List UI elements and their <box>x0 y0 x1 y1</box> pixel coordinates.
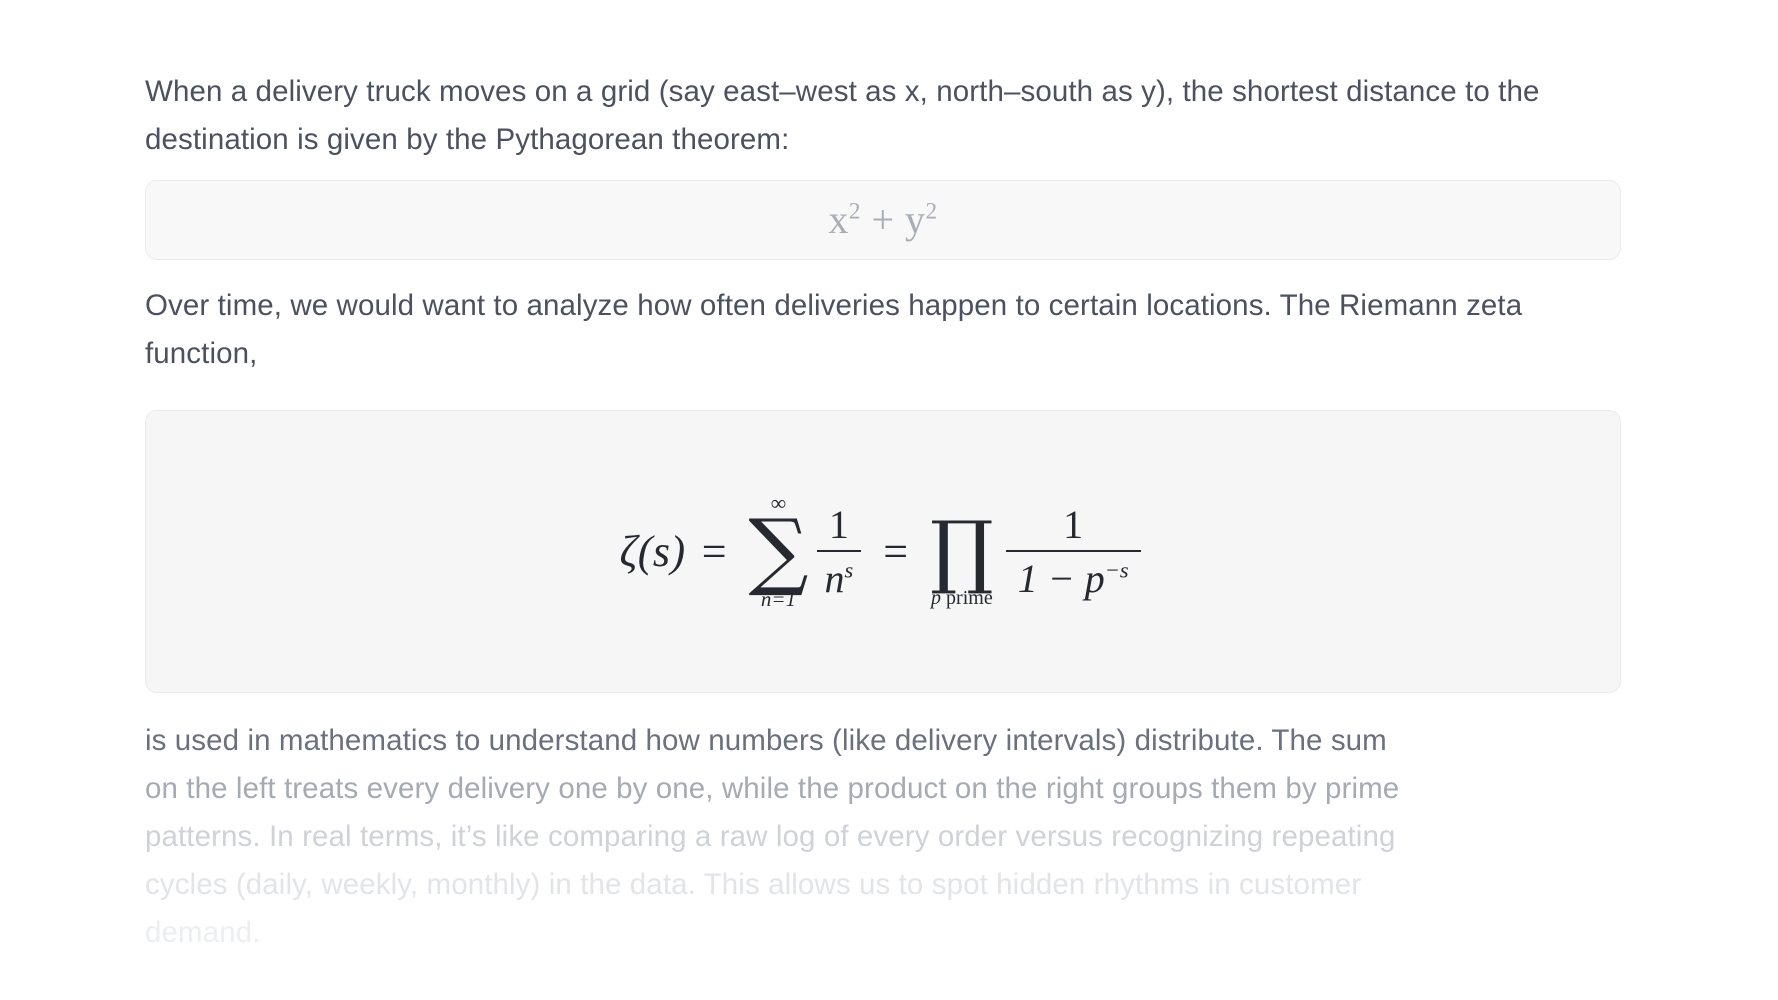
sum-fraction-numerator: 1 <box>821 504 857 550</box>
document-page: When a delivery truck moves on a grid (s… <box>0 0 1778 1000</box>
product-operator: ∏ p prime <box>930 495 994 608</box>
zeta-open-paren: ( <box>638 527 653 576</box>
summation-operator: ∞ ∑ n=1 <box>749 493 809 610</box>
sigma-icon: ∑ <box>749 516 809 585</box>
formula-x-base: x <box>828 197 849 242</box>
paragraph-zeta-intro: Over time, we would want to analyze how … <box>145 260 1621 378</box>
product-denominator-base: p <box>1085 556 1105 601</box>
paragraph-intro: When a delivery truck moves on a grid (s… <box>145 0 1621 164</box>
zeta-variable-s: s <box>653 527 671 576</box>
product-fraction-numerator: 1 <box>1051 504 1095 550</box>
formula-riemann-zeta: ζ(s) = ∞ ∑ n=1 1 ns = <box>619 493 1146 610</box>
closing-line-5: demand. <box>145 909 1621 957</box>
closing-line-4: cycles (daily, weekly, monthly) in the d… <box>145 861 1621 909</box>
closing-line-3: patterns. In real terms, it’s like compa… <box>145 813 1621 861</box>
sum-denominator-exponent: s <box>845 557 854 582</box>
formula-x-exponent: 2 <box>849 199 861 225</box>
closing-line-2: on the left treats every delivery one by… <box>145 765 1621 813</box>
formula-y-base: y <box>905 197 926 242</box>
product-limit-word: prime <box>946 587 993 609</box>
product-lower-limit: p prime <box>931 588 993 608</box>
sum-denominator-base: n <box>825 556 845 601</box>
formula-block-pythagorean: x2 + y2 <box>145 180 1621 260</box>
zeta-close-paren: ) <box>671 527 686 576</box>
product-fraction-denominator: 1 − p−s <box>1006 552 1141 600</box>
formula-pythagorean: x2 + y2 <box>828 200 937 240</box>
zeta-symbol: ζ <box>619 527 637 576</box>
product-limit-variable: p <box>931 587 941 609</box>
formula-block-riemann-zeta: ζ(s) = ∞ ∑ n=1 1 ns = <box>145 410 1621 693</box>
fraction-one-over-n-to-s: 1 ns <box>817 504 862 600</box>
equals-sign-first: = <box>702 526 727 577</box>
product-denominator-minus: − <box>1048 556 1075 601</box>
closing-line-1: is used in mathematics to understand how… <box>145 717 1621 765</box>
product-denominator-exponent: −s <box>1105 557 1129 582</box>
sum-fraction-denominator: ns <box>817 552 862 600</box>
pi-product-icon: ∏ <box>930 518 994 584</box>
paragraph-closing: is used in mathematics to understand how… <box>145 693 1621 957</box>
product-denominator-one: 1 <box>1018 556 1038 601</box>
formula-y-exponent: 2 <box>926 199 938 225</box>
zeta-function-notation: ζ(s) <box>619 526 685 577</box>
document-content: When a delivery truck moves on a grid (s… <box>145 0 1621 957</box>
formula-plus-operator: + <box>871 197 894 242</box>
sum-lower-limit: n=1 <box>761 589 796 610</box>
equals-sign-second: = <box>883 526 908 577</box>
fraction-euler-product-term: 1 1 − p−s <box>1006 504 1141 600</box>
